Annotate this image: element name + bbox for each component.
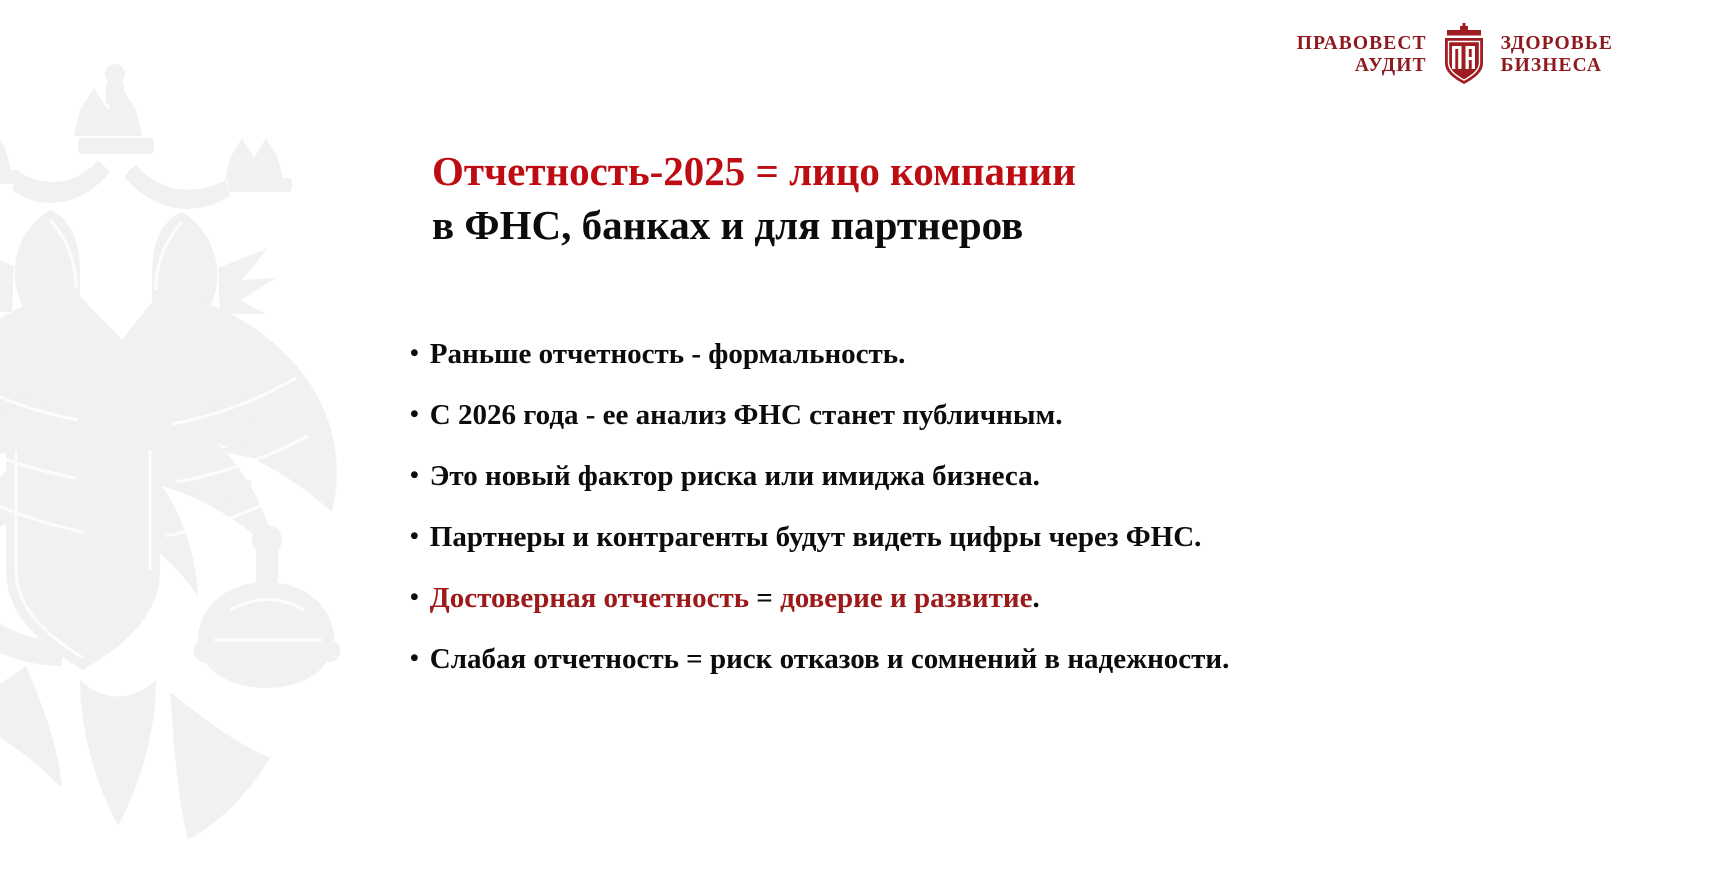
list-item-segment: Партнеры и контрагенты будут видеть цифр…: [430, 521, 1202, 553]
list-item-text: Раньше отчетность - формальность.: [430, 338, 906, 371]
list-item: •Достоверная отчетность = доверие и разв…: [410, 582, 1420, 615]
russian-coat-of-arms-watermark: [0, 40, 400, 860]
list-item-text: Это новый фактор риска или имиджа бизнес…: [430, 460, 1040, 493]
logo-left-words: ПРАВОВЕСТ АУДИТ: [1297, 33, 1427, 77]
list-item-text: Слабая отчетность = риск отказов и сомне…: [430, 643, 1230, 676]
list-item: •Слабая отчетность = риск отказов и сомн…: [410, 643, 1420, 676]
bullet-marker-icon: •: [410, 402, 419, 427]
list-item-segment: =: [756, 582, 780, 614]
bullet-marker-icon: •: [410, 585, 419, 610]
logo-word-biznesa: БИЗНЕСА: [1501, 55, 1613, 77]
slide-title: Отчетность-2025 = лицо компании в ФНС, б…: [432, 146, 1076, 250]
slide-canvas: ПРАВОВЕСТ АУДИТ ЗДОРОВЬЕ БИЗНЕСА: [0, 0, 1725, 884]
list-item: •С 2026 года - ее анализ ФНС станет публ…: [410, 399, 1420, 432]
shield-emblem-icon: [1441, 22, 1487, 88]
list-item-segment: С 2026 года - ее анализ ФНС станет публи…: [430, 399, 1063, 431]
page-title-line-2: в ФНС, банках и для партнеров: [432, 200, 1076, 250]
bullet-marker-icon: •: [410, 646, 419, 671]
list-item-segment: Раньше отчетность - формальность.: [430, 338, 906, 370]
logo-word-audit: АУДИТ: [1297, 55, 1427, 77]
bullet-marker-icon: •: [410, 524, 419, 549]
company-logo: ПРАВОВЕСТ АУДИТ ЗДОРОВЬЕ БИЗНЕСА: [1297, 22, 1613, 88]
list-item-segment: Это новый фактор риска или имиджа бизнес…: [430, 460, 1040, 492]
list-item: •Партнеры и контрагенты будут видеть циф…: [410, 521, 1420, 554]
logo-right-words: ЗДОРОВЬЕ БИЗНЕСА: [1501, 33, 1613, 77]
list-item-text: С 2026 года - ее анализ ФНС станет публи…: [430, 399, 1063, 432]
logo-word-zdorovye: ЗДОРОВЬЕ: [1501, 33, 1613, 55]
bullet-marker-icon: •: [410, 341, 419, 366]
list-item-segment: .: [1032, 582, 1039, 614]
bullet-marker-icon: •: [410, 463, 419, 488]
list-item-segment: Достоверная отчетность: [430, 582, 757, 614]
list-item-text: Достоверная отчетность = доверие и разви…: [430, 582, 1040, 615]
list-item-segment: Слабая отчетность = риск отказов и сомне…: [430, 643, 1230, 675]
list-item-text: Партнеры и контрагенты будут видеть цифр…: [430, 521, 1202, 554]
bullet-list: •Раньше отчетность - формальность.•С 202…: [410, 338, 1420, 676]
logo-word-pravovest: ПРАВОВЕСТ: [1297, 33, 1427, 55]
list-item-segment: доверие и развитие: [780, 582, 1032, 614]
list-item: •Это новый фактор риска или имиджа бизне…: [410, 460, 1420, 493]
list-item: •Раньше отчетность - формальность.: [410, 338, 1420, 371]
page-title-line-1: Отчетность-2025 = лицо компании: [432, 146, 1076, 196]
